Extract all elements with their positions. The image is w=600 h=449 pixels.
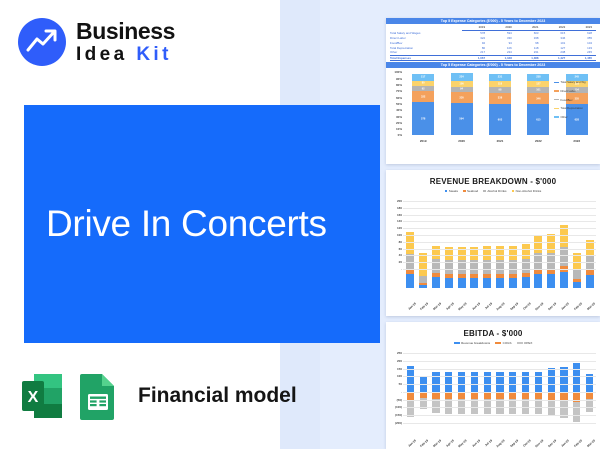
chart-bar-segment: 594 <box>451 103 473 135</box>
table-cell: 1,067 <box>462 55 489 61</box>
legend-label: Seafood <box>467 189 478 193</box>
y-axis-tick: 60% <box>396 96 402 100</box>
y-axis-tick: 20% <box>396 121 402 125</box>
x-axis-tick: Mar-20 <box>586 439 596 448</box>
chart-bar-segment: 603 <box>489 104 511 136</box>
y-axis-tick: 40 <box>399 253 402 257</box>
chart-bar-cogs <box>496 392 503 399</box>
legend-swatch <box>554 82 559 83</box>
x-axis-tick: 2019 <box>420 139 427 143</box>
expenses-document-card[interactable]: Top 5 Expense Categories ($'000) - 5 Yea… <box>386 18 600 164</box>
chart-bar-segment <box>522 277 530 288</box>
chart-bar-revenue <box>445 372 452 392</box>
x-axis-tick: Oct-19 <box>522 302 532 311</box>
bar-value-label: 224 <box>459 76 463 79</box>
x-axis-tick: May-19 <box>458 439 468 449</box>
chart-bar-segment: 330 <box>451 92 473 103</box>
y-axis-tick: (150) <box>395 413 402 417</box>
bar-value-label: 106 <box>459 82 463 85</box>
expense-stacked-chart[interactable]: 100%90%80%70%60%50%40%30%20%10%0% 217809… <box>386 68 600 144</box>
x-axis-tick: Nov-19 <box>534 439 544 449</box>
legend-swatch <box>517 342 523 343</box>
chart-bar-cogs <box>586 392 593 399</box>
y-axis-tick: 90% <box>396 77 402 81</box>
x-axis-tick: 2022 <box>535 139 542 143</box>
chart-bar-cogs <box>471 392 478 399</box>
x-axis-tick: Jan-19 <box>407 439 417 448</box>
chart-bar-segment <box>445 278 453 288</box>
x-axis-tick: Feb-20 <box>573 302 583 311</box>
x-axis-tick: Jul-19 <box>483 302 492 311</box>
legend-item: Total Salary and Wg <box>554 80 586 84</box>
x-axis-tick: 2023 <box>573 139 580 143</box>
legend-label: Revenue breakdowns <box>461 341 490 345</box>
y-axis-tick: 150 <box>397 367 402 371</box>
brand-kit-text: Kit <box>136 44 172 65</box>
x-axis-tick: Jan-19 <box>407 302 417 311</box>
legend-item: Steaks <box>445 189 458 193</box>
chart-bar: 23111898338603 <box>489 68 511 135</box>
financial-model-label: Financial model <box>138 384 297 408</box>
bar-value-label: 594 <box>459 118 463 121</box>
chart-bar-opex <box>548 400 555 416</box>
revenue-chart-legend: SteaksSeafoodAlcohol DrinksNon-Alcohol D… <box>386 189 600 193</box>
y-axis-tick: 180 <box>397 206 402 210</box>
bar-value-label: 578 <box>421 117 425 120</box>
y-axis-tick: 80% <box>396 83 402 87</box>
chart-bar-opex <box>432 399 439 412</box>
chart-bar-revenue <box>573 363 580 392</box>
chart-bar-segment: 578 <box>412 102 434 135</box>
y-axis-tick: 140 <box>397 219 402 223</box>
x-axis-tick: Mar-20 <box>586 302 596 311</box>
chart-bar-cogs <box>432 392 439 399</box>
brand-line-business: Business <box>76 20 175 43</box>
google-sheets-file-icon <box>76 372 120 420</box>
bar-value-label: 238 <box>536 76 540 79</box>
x-axis-tick: Aug-19 <box>496 302 506 312</box>
x-axis-tick: Dec-19 <box>547 439 557 449</box>
bar-value-label: 98 <box>499 88 502 91</box>
chart-bar-revenue <box>407 366 414 392</box>
bar-value-label: 231 <box>498 76 502 79</box>
bar-value-label: 118 <box>498 82 502 85</box>
chart-bar-revenue <box>522 372 529 392</box>
chart-bar-segment <box>547 234 555 252</box>
y-axis-tick: 50 <box>399 382 402 386</box>
chart-bar-segment: 615 <box>527 104 549 135</box>
chart-bar-segment <box>483 278 491 288</box>
legend-swatch <box>512 190 515 193</box>
y-axis-tick: - <box>401 390 402 394</box>
chart-bar-opex <box>573 402 580 422</box>
legend-label: OPEX <box>524 341 532 345</box>
expenses-table: 20192020202120222023Total Salary and Wag… <box>386 24 600 61</box>
chart-bar-segment: 338 <box>489 93 511 104</box>
x-axis-tick: Jan-20 <box>560 439 570 448</box>
bar-value-label: 127 <box>536 82 540 85</box>
x-axis-tick: Apr-19 <box>445 439 455 448</box>
legend-swatch <box>445 190 448 193</box>
ebitda-chart-title: EBITDA - $'000 <box>386 329 600 338</box>
chart-bar-segment: 231 <box>489 74 511 81</box>
excel-file-icon: X <box>20 372 64 420</box>
bar-value-label: 80 <box>422 82 425 85</box>
chart-bar-revenue <box>471 372 478 392</box>
ebitda-chart-legend: Revenue breakdownsCOGSOPEX <box>386 341 600 345</box>
legend-item: Revenue breakdowns <box>454 341 491 345</box>
table-cell: 1,465 <box>569 55 596 61</box>
legend-item: Alcohol Drinks <box>483 189 506 193</box>
x-axis-tick: Nov-19 <box>534 302 544 312</box>
chart-bar-segment <box>573 270 581 279</box>
chart-bar-revenue <box>458 372 465 392</box>
legend-label: Other <box>561 115 568 119</box>
x-axis-tick: Sep-19 <box>509 439 519 449</box>
y-axis-tick: 200 <box>397 199 402 203</box>
x-axis-tick: Mar-19 <box>432 302 442 311</box>
chart-bar-revenue <box>548 368 555 392</box>
table-cell: 1,348 <box>489 55 516 61</box>
y-axis-tick: 60 <box>399 247 402 251</box>
y-axis-tick: 100 <box>397 233 402 237</box>
chart-bar-cogs <box>458 392 465 399</box>
ebitda-document-card[interactable]: EBITDA - $'000 Revenue breakdownsCOGSOPE… <box>386 322 600 449</box>
table-row: Total Expenses1,0671,3481,3881,4271,465 <box>390 55 596 61</box>
y-axis-tick: 0% <box>398 133 402 137</box>
legend-label: Steaks <box>449 189 458 193</box>
ebitda-chart-y-axis: 25020015010050-(50)(100)(150)(200) <box>388 347 402 443</box>
y-axis-tick: (200) <box>395 421 402 425</box>
x-axis-tick: Oct-19 <box>522 439 532 448</box>
chart-bar-cogs <box>535 392 542 399</box>
legend-swatch <box>454 342 460 343</box>
chart-bar: 22410694330594 <box>451 68 473 135</box>
legend-item: COGS <box>495 341 511 345</box>
legend-label: Direct Labor <box>561 89 576 93</box>
chart-bar-segment: 238 <box>527 74 549 81</box>
legend-label: Alcohol Drinks <box>487 189 506 193</box>
legend-swatch <box>495 342 501 343</box>
x-axis-tick: Jul-19 <box>483 439 492 448</box>
brand-line-idea-kit: Idea Kit <box>76 45 175 64</box>
bar-value-label: 322 <box>421 95 425 98</box>
ebitda-chart[interactable]: 25020015010050-(50)(100)(150)(200) Jan-1… <box>386 347 600 443</box>
chart-bar-revenue <box>496 372 503 392</box>
legend-item: Seafood <box>463 189 478 193</box>
revenue-chart[interactable]: 20018016014012010080604020- Jan-19Feb-19… <box>386 195 600 307</box>
legend-swatch <box>554 99 559 100</box>
chart-bar-segment <box>496 278 504 288</box>
chart-bar-segment <box>432 277 440 288</box>
bar-value-label: 92 <box>422 87 425 90</box>
brand-idea-text: Idea <box>76 44 136 65</box>
brand-logo: Business Idea Kit <box>18 18 175 66</box>
y-axis-tick: 20 <box>399 260 402 264</box>
svg-text:X: X <box>28 389 39 406</box>
chart-bar-revenue <box>509 372 516 392</box>
x-axis-tick: 2020 <box>458 139 465 143</box>
page-title: Drive In Concerts <box>24 203 327 245</box>
trend-arrow-circle-icon <box>18 18 66 66</box>
y-axis-tick: 30% <box>396 115 402 119</box>
bar-value-label: 94 <box>460 88 463 91</box>
y-axis-tick: (50) <box>397 398 402 402</box>
x-axis-tick: 2021 <box>497 139 504 143</box>
x-axis-tick: Feb-20 <box>573 439 583 448</box>
expense-chart-x-labels: 20192020202120222023 <box>404 139 596 143</box>
x-axis-tick: Feb-19 <box>419 439 429 448</box>
chart-bar-opex <box>586 399 593 412</box>
chart-bar-cogs <box>509 392 516 399</box>
legend-label: Food/Bev <box>561 98 573 102</box>
chart-bar-segment <box>509 278 517 288</box>
chart-bar-segment: 224 <box>451 73 473 80</box>
legend-label: Total Salary and Wg <box>561 80 586 84</box>
legend-item: Total Depreciation <box>554 106 586 110</box>
legend-swatch <box>483 190 486 193</box>
y-axis-tick: 80 <box>399 240 402 244</box>
legend-label: Total Depreciation <box>561 106 583 110</box>
chart-bar-segment <box>560 247 568 267</box>
ebitda-chart-plot <box>404 347 596 425</box>
x-axis-tick: Apr-19 <box>445 302 455 311</box>
legend-label: Non-Alcohol Drinks <box>516 189 542 193</box>
expense-chart-y-axis: 100%90%80%70%60%50%40%30%20%10%0% <box>388 68 402 144</box>
bar-value-label: 338 <box>498 97 502 100</box>
bar-value-label: 603 <box>498 118 502 121</box>
revenue-document-card[interactable]: REVENUE BREAKDOWN - $'000 SteaksSeafoodA… <box>386 170 600 316</box>
chart-bar-segment <box>573 282 581 288</box>
y-axis-tick: 40% <box>396 108 402 112</box>
chart-bar: 238127101346615 <box>527 68 549 135</box>
y-axis-tick: 250 <box>397 351 402 355</box>
revenue-chart-x-labels: Jan-19Feb-19Mar-19Apr-19May-19Jun-19Jul-… <box>404 301 596 305</box>
chart-bar: 2178092322578 <box>412 68 434 135</box>
table-cell: 1,388 <box>516 55 543 61</box>
x-axis-tick: Jan-20 <box>560 302 570 311</box>
chart-bar-cogs <box>445 392 452 399</box>
chart-bar-segment <box>522 259 530 273</box>
x-axis-tick: Jun-19 <box>471 302 481 311</box>
bar-value-label: 330 <box>459 96 463 99</box>
chart-bar-segment <box>534 274 542 288</box>
legend-label: COGS <box>503 341 512 345</box>
chart-bar-revenue <box>586 374 593 392</box>
y-axis-tick: 100 <box>397 374 402 378</box>
y-axis-tick: 120 <box>397 226 402 230</box>
legend-item: Food/Bev <box>554 98 586 102</box>
bar-value-label: 245 <box>575 76 579 79</box>
chart-bar-segment: 346 <box>527 93 549 105</box>
legend-item: OPEX <box>517 341 533 345</box>
x-axis-tick: May-19 <box>458 302 468 312</box>
x-axis-tick: Sep-19 <box>509 302 519 312</box>
bar-value-label: 615 <box>536 118 540 121</box>
chart-bar-cogs <box>484 392 491 399</box>
chart-bar-segment <box>470 278 478 288</box>
hero-banner: Drive In Concerts <box>24 105 380 343</box>
legend-swatch <box>554 116 559 117</box>
expense-chart-legend: Total Salary and WgDirect LaborFood/BevT… <box>554 80 586 123</box>
chart-bar-revenue <box>484 372 491 392</box>
x-axis-tick: Dec-19 <box>547 302 557 312</box>
legend-item: Non-Alcohol Drinks <box>512 189 542 193</box>
legend-item: Other <box>554 115 586 119</box>
chart-bar-segment <box>406 274 414 288</box>
table-cell: 1,427 <box>543 55 570 61</box>
expenses-table-element: 20192020202120222023Total Salary and Wag… <box>390 25 596 61</box>
revenue-chart-title: REVENUE BREAKDOWN - $'000 <box>386 177 600 186</box>
chart-bar-revenue <box>560 367 567 392</box>
chart-bar-segment <box>560 272 568 288</box>
table-row-label: Total Expenses <box>390 55 462 61</box>
chart-bar-segment <box>534 236 542 253</box>
chart-bar-cogs <box>573 392 580 402</box>
y-axis-tick: 160 <box>397 213 402 217</box>
y-axis-tick: - <box>401 267 402 271</box>
y-axis-tick: (100) <box>395 405 402 409</box>
chart-bar-segment: 322 <box>412 91 434 102</box>
legend-swatch <box>463 190 466 193</box>
chart-bar-cogs <box>522 392 529 399</box>
y-axis-tick: 70% <box>396 89 402 93</box>
x-axis-tick: Mar-19 <box>432 439 442 448</box>
chart-bar-segment <box>547 274 555 288</box>
chart-bar-segment: 217 <box>412 74 434 81</box>
chart-bar-segment <box>522 244 530 259</box>
chart-bar-segment <box>586 275 594 288</box>
x-axis-tick: Aug-19 <box>496 439 506 449</box>
y-axis-tick: 200 <box>397 359 402 363</box>
bar-value-label: 217 <box>421 76 425 79</box>
chart-bar-revenue <box>535 372 542 392</box>
chart-bar-segment <box>419 285 427 288</box>
legend-swatch <box>554 90 559 91</box>
bar-value-label: 346 <box>536 97 540 100</box>
y-axis-tick: 10% <box>396 127 402 131</box>
chart-bar-segment <box>458 278 466 288</box>
bar-value-label: 101 <box>536 88 540 91</box>
revenue-chart-y-axis: 20018016014012010080604020- <box>388 195 402 307</box>
chart-bar-revenue <box>432 372 439 392</box>
legend-item: Direct Labor <box>554 89 586 93</box>
chart-bar-segment <box>419 253 427 276</box>
y-axis-tick: 100% <box>394 70 402 74</box>
x-axis-tick: Jun-19 <box>471 439 481 448</box>
ebitda-chart-x-labels: Jan-19Feb-19Mar-19Apr-19May-19Jun-19Jul-… <box>404 438 596 442</box>
y-axis-tick: 50% <box>396 102 402 106</box>
x-axis-tick: Feb-19 <box>419 302 429 311</box>
brand-wordmark: Business Idea Kit <box>76 20 175 64</box>
legend-swatch <box>554 108 559 109</box>
file-format-row: X Financial model <box>20 372 297 420</box>
